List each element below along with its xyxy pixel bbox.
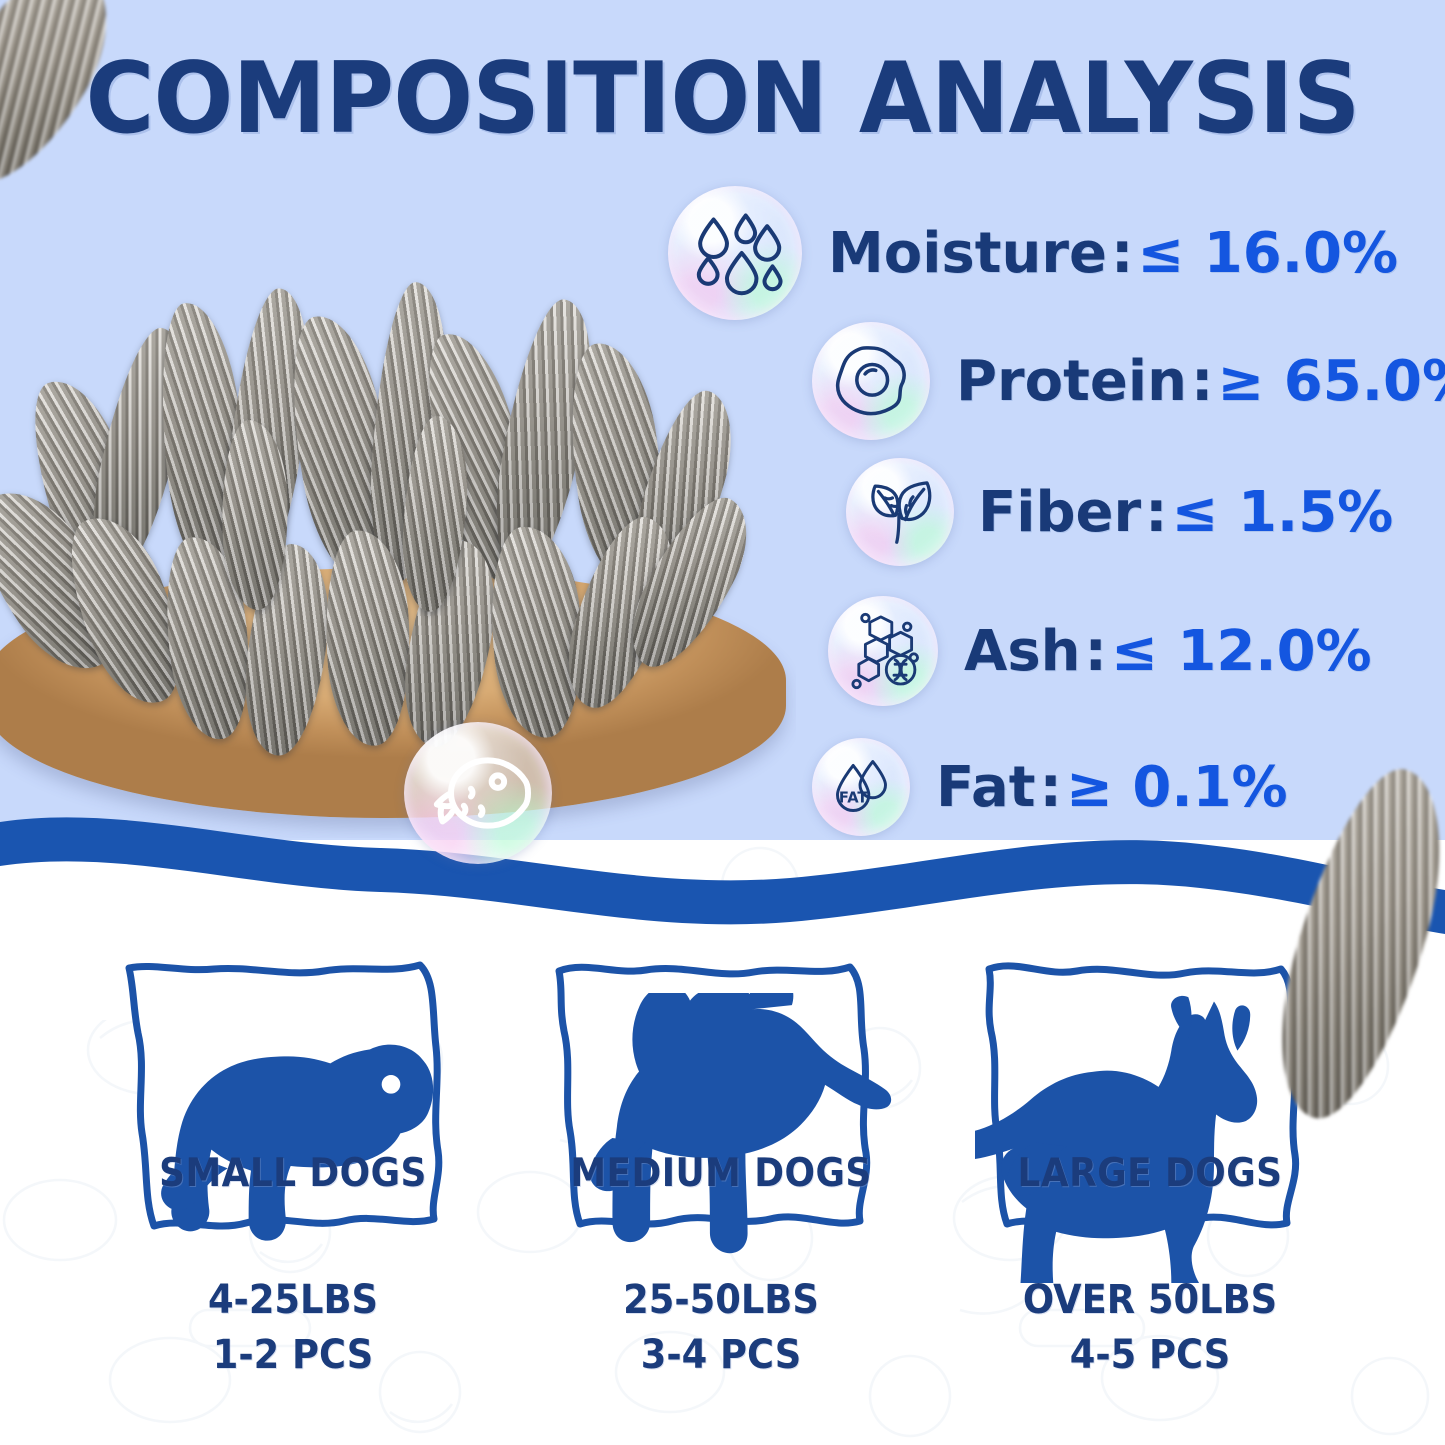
nutrition-row: Fiber:≤ 1.5% [846, 458, 1393, 566]
nutrition-row: Ash:≤ 12.0% [828, 596, 1372, 706]
feeding-card-large[interactable]: LARGE DOGS OVER 50LBS 4-5 PCS [975, 955, 1325, 1245]
nutrition-label: Ash [964, 619, 1081, 684]
card-pieces: 3-4 PCS [560, 1328, 882, 1383]
card-frame: MEDIUM DOGS [546, 955, 896, 1245]
nutrition-label: Protein [956, 349, 1187, 414]
feeding-guide: SMALL DOGS 4-25LBS 1-2 PCS MEDIUM DOG [0, 955, 1445, 1425]
molecule-dna-icon [828, 596, 938, 706]
nutrition-value: ≤ 16.0% [1137, 221, 1398, 286]
top-section: COMPOSITION ANALYSIS [0, 0, 1445, 900]
card-title: LARGE DOGS [989, 1151, 1311, 1196]
nutrition-separator: : [1081, 619, 1111, 684]
nutrition-label-value: Moisture:≤ 16.0% [828, 221, 1398, 286]
small-dog-icon [118, 993, 468, 1128]
card-pieces: 4-5 PCS [989, 1328, 1311, 1383]
nutrition-row: Protein:≥ 65.0% [812, 322, 1445, 440]
card-title: SMALL DOGS [132, 1151, 454, 1196]
egg-icon [812, 322, 930, 440]
nutrition-separator: : [1187, 349, 1217, 414]
fish-icon [404, 722, 552, 864]
water-drops-icon [668, 186, 802, 320]
card-weight: OVER 50LBS [989, 1273, 1311, 1328]
feeding-card-small[interactable]: SMALL DOGS 4-25LBS 1-2 PCS [118, 955, 468, 1245]
nutrition-row: Moisture:≤ 16.0% [668, 186, 1398, 320]
leaf-icon [846, 458, 954, 566]
card-weight: 4-25LBS [132, 1273, 454, 1328]
nutrition-separator: : [1141, 480, 1171, 545]
nutrition-label-value: Fiber:≤ 1.5% [978, 480, 1393, 545]
nutrition-list: Moisture:≤ 16.0% Protein:≥ 65.0% [0, 0, 1445, 900]
card-title: MEDIUM DOGS [560, 1151, 882, 1196]
nutrition-separator: : [1107, 221, 1137, 286]
medium-dog-icon [546, 993, 896, 1128]
nutrition-value: ≤ 12.0% [1111, 619, 1372, 684]
card-specs: OVER 50LBS 4-5 PCS [989, 1273, 1311, 1383]
nutrition-label: Moisture [828, 221, 1107, 286]
card-frame: LARGE DOGS [975, 955, 1325, 1245]
nutrition-label-value: Ash:≤ 12.0% [964, 619, 1372, 684]
card-pieces: 1-2 PCS [132, 1328, 454, 1383]
large-dog-icon [975, 993, 1325, 1128]
card-specs: 4-25LBS 1-2 PCS [132, 1273, 454, 1383]
nutrition-label: Fiber [978, 480, 1141, 545]
nutrition-value: ≥ 65.0% [1217, 349, 1445, 414]
card-weight: 25-50LBS [560, 1273, 882, 1328]
card-frame: SMALL DOGS [118, 955, 468, 1245]
card-specs: 25-50LBS 3-4 PCS [560, 1273, 882, 1383]
composition-analysis-infographic: COMPOSITION ANALYSIS [0, 0, 1445, 1445]
feeding-card-medium[interactable]: MEDIUM DOGS 25-50LBS 3-4 PCS [546, 955, 896, 1245]
nutrition-label-value: Protein:≥ 65.0% [956, 349, 1445, 414]
nutrition-value: ≤ 1.5% [1172, 480, 1394, 545]
